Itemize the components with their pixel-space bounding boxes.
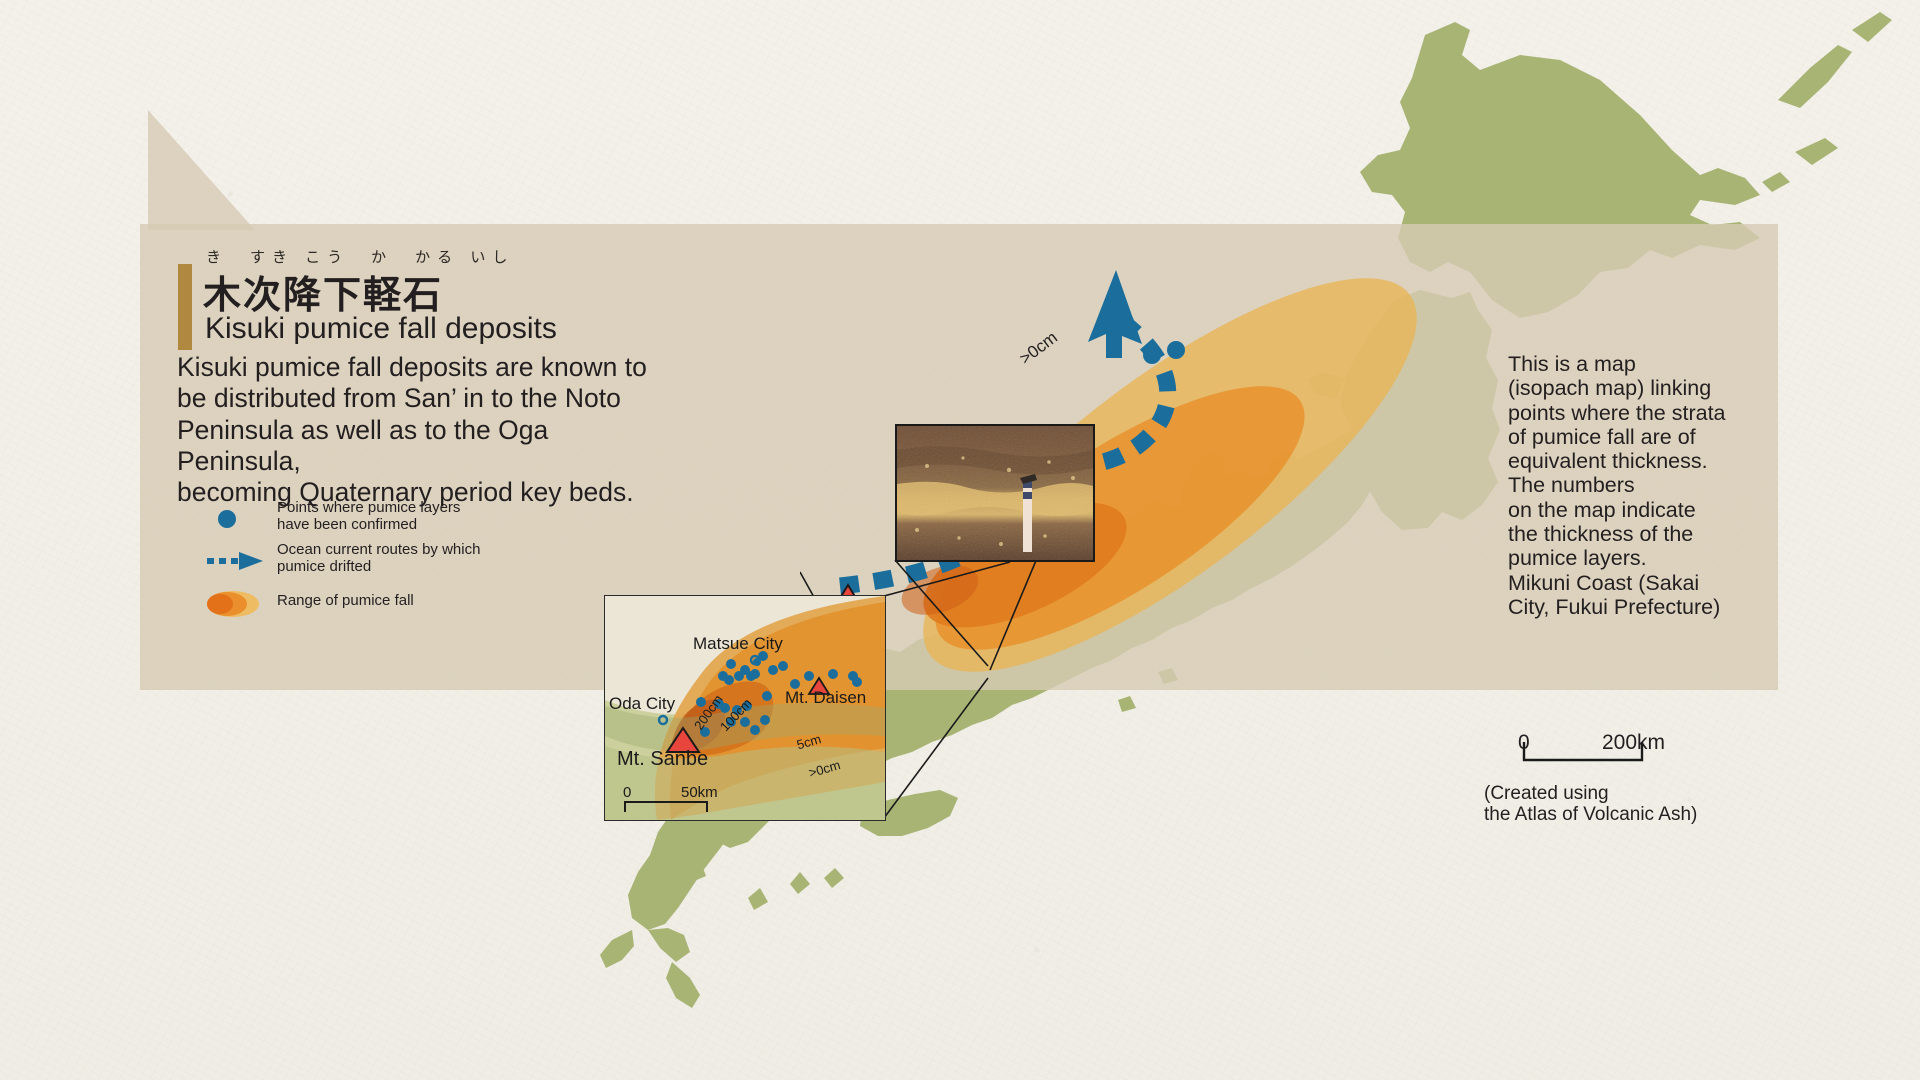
- isopach-label-0cm: >0cm: [1016, 328, 1061, 368]
- map-scale-bar: [1520, 740, 1670, 780]
- legend-item-points: Points where pumice layers have been con…: [205, 500, 625, 542]
- map-legend: Points where pumice layers have been con…: [205, 500, 625, 626]
- accent-bar: [178, 264, 192, 350]
- body-paragraph: Kisuki pumice fall deposits are known to…: [177, 352, 667, 508]
- dashed-arrow-icon: [205, 542, 269, 576]
- blue-dot-icon: [205, 500, 269, 534]
- page-title-japanese: 木次降下軽石: [203, 264, 443, 319]
- page-title-english: Kisuki pumice fall deposits: [205, 312, 557, 346]
- inset-label-mt-sanbe: Mt. Sanbe: [617, 748, 708, 771]
- legend-label-range: Range of pumice fall: [277, 593, 414, 610]
- panel-pointer-tail: [140, 110, 350, 230]
- source-credit: (Created using the Atlas of Volcanic Ash…: [1484, 783, 1697, 826]
- inset-label-oda-city: Oda City: [609, 694, 675, 714]
- inset-map-callout-connector: [860, 560, 1260, 840]
- inset-label-mt-daisen: Mt. Daisen: [785, 688, 866, 708]
- outcrop-photo-inset: [895, 424, 1095, 562]
- inset-label-matsue-city: Matsue City: [693, 634, 783, 654]
- orange-ellipses-icon: [205, 586, 269, 620]
- legend-item-current: Ocean current routes by which pumice dri…: [205, 542, 625, 586]
- map-description-text: This is a map (isopach map) linking poin…: [1508, 352, 1758, 619]
- ocean-current-arrowhead: [1088, 270, 1142, 358]
- legend-label-current: Ocean current routes by which pumice dri…: [277, 542, 480, 576]
- regional-inset-map: Matsue City Oda City Mt. Daisen Mt. Sanb…: [604, 595, 886, 821]
- inset-scale-start: 0: [623, 784, 631, 801]
- legend-label-points: Points where pumice layers have been con…: [277, 500, 460, 534]
- inset-scale-end: 50km: [681, 784, 718, 801]
- legend-item-range: Range of pumice fall: [205, 586, 625, 626]
